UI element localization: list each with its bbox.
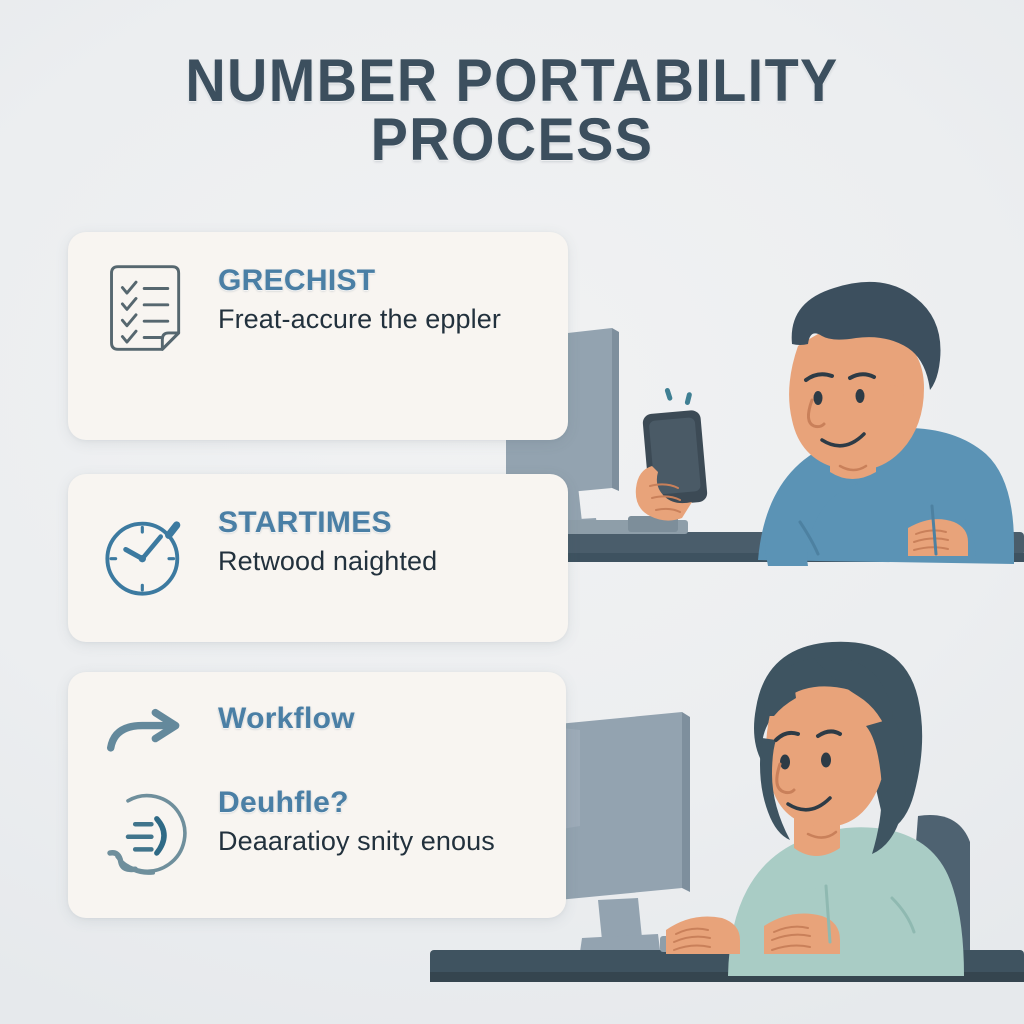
info-card-grechist[interactable]: GRECHIST Freat-accure the eppler bbox=[68, 232, 568, 440]
phone-man bbox=[642, 410, 708, 507]
title-line-2: PROCESS bbox=[110, 111, 914, 170]
info-card-workflow[interactable]: Workflow Deuhfle? Deaa bbox=[68, 672, 566, 918]
head-man bbox=[789, 282, 940, 471]
card-3-heading-deuhfle: Deuhfle? bbox=[218, 786, 540, 820]
keyboard-top bbox=[558, 516, 688, 534]
info-card-startimes[interactable]: STARTIMES Retwood naighted bbox=[68, 474, 568, 642]
hand-man-phone bbox=[636, 466, 692, 521]
card-3-heading-workflow: Workflow bbox=[218, 702, 540, 736]
card-2-heading: STARTIMES bbox=[218, 506, 542, 540]
checklist-document-icon bbox=[98, 258, 194, 368]
keyboard-bottom bbox=[660, 931, 810, 952]
page-title: NUMBER PORTABILITY PROCESS bbox=[0, 52, 1024, 170]
arm-man-left bbox=[765, 459, 858, 566]
sparkle-icon bbox=[664, 387, 692, 405]
neck-man bbox=[830, 420, 876, 479]
card-3-row-workflow[interactable]: Workflow bbox=[98, 702, 540, 764]
desk-top bbox=[500, 532, 1024, 562]
card-1-text: GRECHIST Freat-accure the eppler bbox=[218, 258, 542, 336]
infographic-poster: NUMBER PORTABILITY PROCESS bbox=[0, 0, 1024, 1024]
curved-arrow-right-icon bbox=[98, 702, 194, 764]
circular-lines-refresh-icon bbox=[98, 786, 194, 896]
card-3-row-2-text: Deuhfle? Deaaratioy snity enous bbox=[218, 786, 540, 858]
title-line-1: NUMBER PORTABILITY bbox=[110, 52, 914, 111]
card-3-row-deuhfle[interactable]: Deuhfle? Deaaratioy snity enous bbox=[98, 786, 540, 896]
card-2-text: STARTIMES Retwood naighted bbox=[218, 500, 542, 578]
sweater-woman bbox=[728, 827, 964, 976]
card-2-body: Retwood naighted bbox=[218, 544, 542, 578]
clock-stopwatch-icon bbox=[98, 500, 194, 610]
monitor-bottom bbox=[558, 712, 690, 952]
card-3-row-1-text: Workflow bbox=[218, 702, 540, 740]
neck-woman bbox=[794, 790, 840, 856]
card-3-body-deuhfle: Deaaratioy snity enous bbox=[218, 824, 540, 858]
head-woman bbox=[760, 657, 907, 854]
desk-bottom bbox=[430, 950, 1024, 982]
chair-bottom bbox=[908, 815, 970, 950]
hands-woman bbox=[666, 914, 840, 954]
card-1-heading: GRECHIST bbox=[218, 264, 542, 298]
hand-man-right bbox=[908, 519, 968, 556]
chair-top bbox=[944, 458, 996, 540]
sweater-man bbox=[758, 428, 1014, 564]
card-1-body: Freat-accure the eppler bbox=[218, 302, 542, 336]
illustration-man-with-phone bbox=[500, 270, 1024, 630]
hair-woman bbox=[754, 642, 922, 832]
